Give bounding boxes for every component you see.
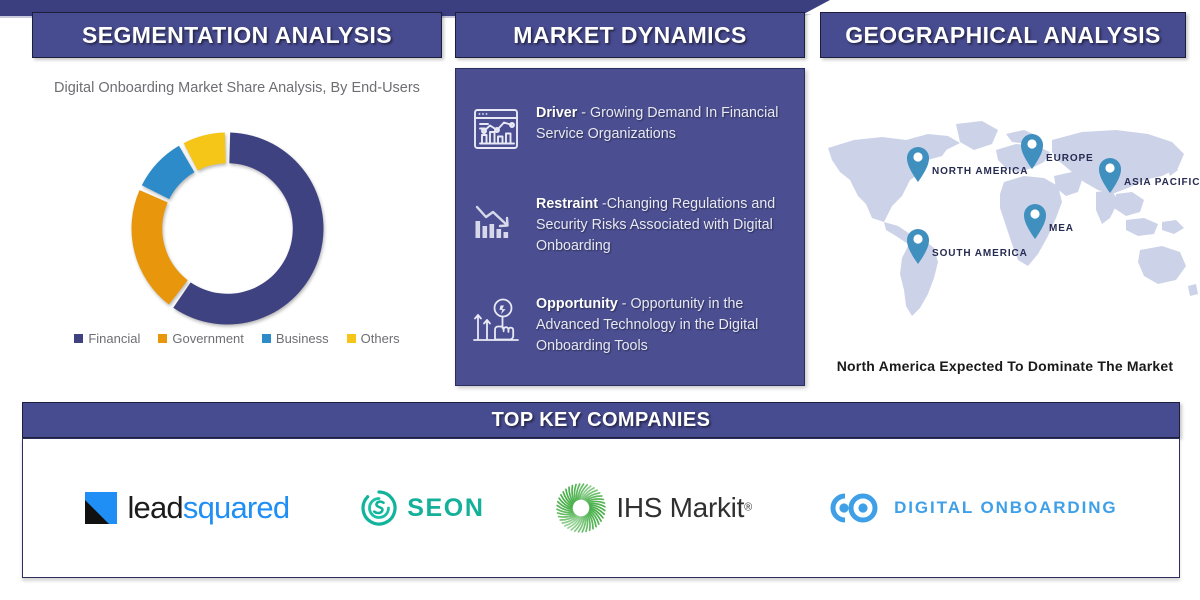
legend-item-government: Government bbox=[158, 331, 244, 346]
market-dynamics-item-opportunity: Opportunity - Opportunity in the Advance… bbox=[468, 292, 792, 357]
legend-label-government: Government bbox=[172, 331, 244, 346]
legend-item-financial: Financial bbox=[74, 331, 140, 346]
map-label-south-america: SOUTH AMERICA bbox=[932, 248, 1028, 259]
legend-label-financial: Financial bbox=[88, 331, 140, 346]
donut-chart-svg bbox=[125, 126, 330, 331]
map-pin-dot-south-america bbox=[913, 234, 922, 243]
company-logo-digital-onboarding[interactable]: DIGITAL ONBOARDING bbox=[823, 482, 1117, 534]
segmentation-header-bar: SEGMENTATION ANALYSIS bbox=[32, 12, 442, 58]
opportunity-separator: - bbox=[618, 296, 631, 312]
chart-caption: Digital Onboarding Market Share Analysis… bbox=[32, 78, 442, 98]
ihs-markit-trademark: ® bbox=[744, 502, 752, 514]
donut-slice-business bbox=[142, 146, 195, 199]
seon-wordmark: SEON bbox=[407, 494, 484, 523]
geographical-panel: NORTH AMERICAEUROPEASIA PACIFICMEASOUTH … bbox=[810, 68, 1200, 388]
map-label-europe: EUROPE bbox=[1046, 153, 1094, 164]
market-share-donut-chart bbox=[125, 126, 330, 331]
dashboard-chart-icon bbox=[468, 101, 524, 157]
digital-onboarding-logo-mark bbox=[823, 491, 885, 525]
key-companies-header-bar: TOP KEY COMPANIES bbox=[22, 402, 1180, 438]
company-logo-leadsquared[interactable]: leadsquared bbox=[84, 482, 289, 534]
ihs-markit-word: IHS Markit bbox=[616, 492, 744, 523]
restraint-separator: - bbox=[598, 196, 607, 212]
driver-separator: - bbox=[577, 105, 590, 121]
ihs-markit-logo-mark bbox=[555, 482, 607, 534]
legend-swatch-financial bbox=[74, 334, 83, 343]
restraint-label: Restraint bbox=[536, 196, 598, 212]
map-label-asia-pacific: ASIA PACIFIC bbox=[1124, 177, 1200, 188]
map-pin-dot-north-america bbox=[913, 152, 922, 161]
leadsquared-logo-mark bbox=[84, 491, 118, 525]
leadsquared-word-lead: lead bbox=[127, 490, 182, 525]
map-label-north-america: NORTH AMERICA bbox=[932, 166, 1028, 177]
declining-bar-chart-icon bbox=[468, 192, 524, 248]
segmentation-panel: Digital Onboarding Market Share Analysis… bbox=[32, 68, 442, 368]
world-map-svg bbox=[810, 110, 1200, 330]
geographical-header-title: GEOGRAPHICAL ANALYSIS bbox=[845, 22, 1161, 49]
market-dynamics-item-driver: Driver - Growing Demand In Financial Ser… bbox=[468, 101, 792, 157]
geographical-caption: North America Expected To Dominate The M… bbox=[810, 358, 1200, 374]
map-label-mea: MEA bbox=[1049, 223, 1074, 234]
market-dynamics-header-title: MARKET DYNAMICS bbox=[513, 22, 746, 49]
world-map: NORTH AMERICAEUROPEASIA PACIFICMEASOUTH … bbox=[810, 110, 1200, 330]
infographic-root: SEGMENTATION ANALYSIS Digital Onboarding… bbox=[0, 0, 1200, 600]
market-dynamics-opportunity-text: Opportunity - Opportunity in the Advance… bbox=[536, 292, 792, 357]
key-companies-panel: leadsquared SEON IHS Markit® bbox=[22, 438, 1180, 578]
market-dynamics-header-bar: MARKET DYNAMICS bbox=[455, 12, 805, 58]
segmentation-header-title: SEGMENTATION ANALYSIS bbox=[82, 22, 392, 49]
geographical-header-bar: GEOGRAPHICAL ANALYSIS bbox=[820, 12, 1186, 58]
seon-logo-mark bbox=[360, 489, 398, 527]
hand-lightbulb-growth-icon bbox=[468, 292, 524, 348]
legend-label-others: Others bbox=[361, 331, 400, 346]
map-pin-dot-mea bbox=[1030, 209, 1039, 218]
opportunity-label: Opportunity bbox=[536, 296, 618, 312]
legend-label-business: Business bbox=[276, 331, 329, 346]
driver-label: Driver bbox=[536, 105, 577, 121]
key-companies-header-title: TOP KEY COMPANIES bbox=[492, 409, 711, 432]
donut-slice-government bbox=[131, 190, 187, 304]
market-dynamics-driver-text: Driver - Growing Demand In Financial Ser… bbox=[536, 101, 792, 145]
legend-item-others: Others bbox=[347, 331, 400, 346]
digital-onboarding-wordmark: DIGITAL ONBOARDING bbox=[894, 498, 1117, 518]
legend-swatch-business bbox=[262, 334, 271, 343]
leadsquared-wordmark: leadsquared bbox=[127, 490, 289, 526]
map-pin-dot-asia-pacific bbox=[1105, 163, 1114, 172]
legend-item-business: Business bbox=[262, 331, 329, 346]
ihs-markit-wordmark: IHS Markit® bbox=[616, 492, 752, 524]
leadsquared-word-squared: squared bbox=[183, 490, 289, 525]
donut-chart-legend: FinancialGovernmentBusinessOthers bbox=[32, 331, 442, 346]
market-dynamics-panel: Driver - Growing Demand In Financial Ser… bbox=[455, 68, 805, 386]
map-pin-dot-europe bbox=[1027, 139, 1036, 148]
market-dynamics-item-restraint: Restraint -Changing Regulations and Secu… bbox=[468, 192, 792, 257]
legend-swatch-government bbox=[158, 334, 167, 343]
company-logo-seon[interactable]: SEON bbox=[360, 482, 484, 534]
company-logo-ihs-markit[interactable]: IHS Markit® bbox=[555, 482, 752, 534]
market-dynamics-restraint-text: Restraint -Changing Regulations and Secu… bbox=[536, 192, 792, 257]
legend-swatch-others bbox=[347, 334, 356, 343]
